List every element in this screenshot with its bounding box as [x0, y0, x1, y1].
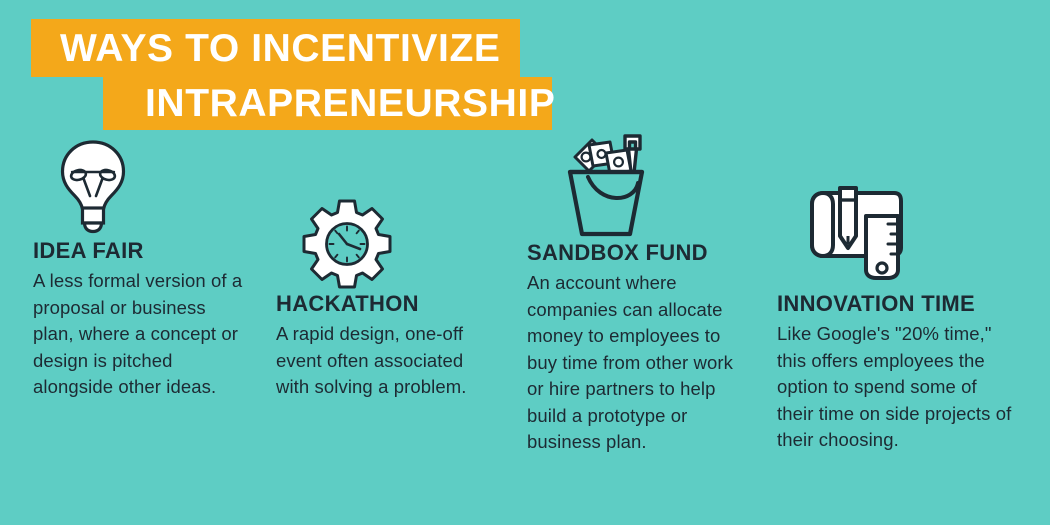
body-sandbox-fund: An account where companies can allocate … — [527, 270, 745, 456]
heading-sandbox-fund: SANDBOX FUND — [527, 242, 708, 264]
money-pail-icon — [556, 133, 656, 237]
heading-hackathon: HACKATHON — [276, 293, 419, 315]
gear-clock-icon — [303, 199, 391, 287]
title-banner-line-1: WAYS TO INCENTIVIZE — [31, 19, 520, 77]
body-innovation-time: Like Google's "20% time," this offers em… — [777, 321, 1017, 454]
body-idea-fair: A less formal version of a proposal or b… — [33, 268, 243, 401]
heading-innovation-time: INNOVATION TIME — [777, 293, 975, 315]
title-banner-line-2: INTRAPRENEURSHIP — [103, 77, 552, 130]
body-hackathon: A rapid design, one-off event often asso… — [276, 321, 488, 401]
blueprint-pencil-ruler-icon — [802, 186, 908, 280]
heading-idea-fair: IDEA FAIR — [33, 240, 144, 262]
title-block: WAYS TO INCENTIVIZE INTRAPRENEURSHIP — [0, 0, 1050, 145]
lightbulb-icon — [56, 138, 130, 234]
